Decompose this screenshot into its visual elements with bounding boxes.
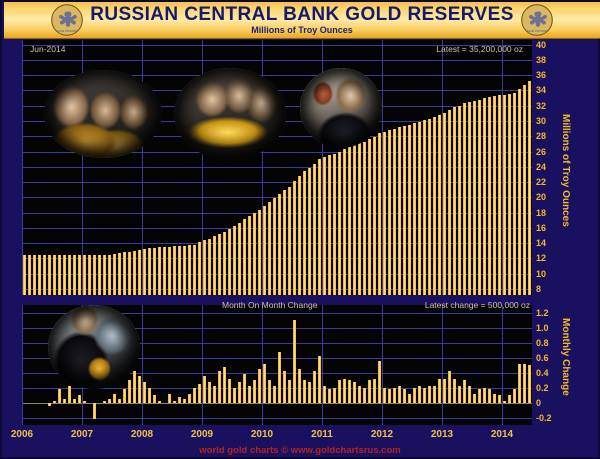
y-axis-tick: 8 bbox=[536, 285, 541, 294]
monthly-change-bar bbox=[303, 380, 306, 403]
monthly-change-bar bbox=[503, 401, 506, 403]
latest-change-label: Latest change = 500,000 oz bbox=[425, 300, 530, 310]
monthly-change-bar bbox=[273, 386, 276, 403]
reserves-bar bbox=[273, 198, 276, 295]
reserves-bar bbox=[393, 129, 396, 295]
monthly-change-bar bbox=[373, 379, 376, 403]
reserves-bar bbox=[118, 253, 121, 295]
reserves-bar bbox=[318, 159, 321, 295]
y-axis-tick: 30 bbox=[536, 117, 546, 126]
monthly-change-bar bbox=[433, 386, 436, 403]
reserves-bar bbox=[508, 94, 511, 295]
reserves-bar bbox=[123, 252, 126, 295]
monthly-change-bar bbox=[63, 399, 66, 403]
reserves-bar bbox=[243, 219, 246, 295]
monthly-change-bar bbox=[188, 394, 191, 403]
y-axis-tick: 28 bbox=[536, 132, 546, 141]
reserves-bar bbox=[218, 234, 221, 295]
photo-gold-bar-handover bbox=[174, 68, 286, 160]
reserves-bar bbox=[403, 126, 406, 296]
monthly-change-bar bbox=[313, 371, 316, 403]
reserves-bar bbox=[158, 247, 161, 295]
reserves-bar bbox=[108, 255, 111, 296]
monthly-change-bar bbox=[48, 403, 51, 407]
russian-eagle-emblem-right: БАНК РОССИИ bbox=[520, 3, 554, 37]
monthly-change-bar bbox=[78, 395, 81, 403]
y-axis-tick: 0.6 bbox=[536, 354, 549, 363]
y-axis-tick: 0 bbox=[536, 399, 541, 408]
monthly-change-plot-area bbox=[22, 305, 532, 425]
reserves-bar bbox=[443, 113, 446, 296]
reserves-bar bbox=[33, 255, 36, 295]
x-axis-tick: 2007 bbox=[71, 429, 93, 440]
monthly-change-bar bbox=[478, 389, 481, 403]
reserves-bar bbox=[353, 145, 356, 295]
monthly-change-bar bbox=[423, 388, 426, 403]
monthly-change-bar bbox=[398, 386, 401, 403]
monthly-change-bar bbox=[393, 388, 396, 403]
reserves-bar bbox=[233, 226, 236, 296]
monthly-change-bar bbox=[323, 386, 326, 403]
monthly-change-bar bbox=[213, 386, 216, 403]
monthly-change-bar bbox=[453, 379, 456, 403]
reserves-bar bbox=[268, 202, 271, 295]
monthly-change-bar bbox=[83, 401, 86, 403]
y-axis-tick: 18 bbox=[536, 209, 546, 218]
reserves-bar bbox=[23, 255, 26, 295]
x-axis-tick: 2011 bbox=[311, 429, 333, 440]
reserves-bar bbox=[248, 216, 251, 295]
monthly-change-bar bbox=[218, 371, 221, 403]
page-subtitle: Millions of Troy Ounces bbox=[251, 25, 353, 36]
monthly-change-bar bbox=[288, 380, 291, 403]
monthly-change-bar bbox=[53, 401, 56, 403]
monthly-change-bar bbox=[128, 380, 131, 403]
reserves-bar bbox=[498, 95, 501, 295]
monthly-change-title: Month On Month Change bbox=[222, 300, 317, 310]
reserves-bar bbox=[293, 181, 296, 295]
monthly-change-bar bbox=[73, 399, 76, 403]
reserves-bar bbox=[223, 232, 226, 295]
y-axis-tick: 24 bbox=[536, 163, 546, 172]
monthly-change-bar bbox=[283, 371, 286, 403]
reserves-bar bbox=[228, 229, 231, 295]
monthly-change-bar bbox=[68, 386, 71, 403]
monthly-change-bar bbox=[58, 389, 61, 403]
chart-page: БАНК РОССИИ RUSSIAN CENTRAL BANK GOLD RE… bbox=[0, 0, 600, 459]
monthly-change-bar bbox=[483, 388, 486, 403]
reserves-bar bbox=[448, 110, 451, 296]
reserves-bar bbox=[383, 132, 386, 295]
monthly-change-bar bbox=[243, 374, 246, 403]
reserves-bar bbox=[78, 255, 81, 295]
monthly-change-bar bbox=[443, 379, 446, 403]
monthly-change-bar bbox=[268, 380, 271, 403]
y-axis-tick: 10 bbox=[536, 270, 546, 279]
y-axis-tick: 36 bbox=[536, 71, 546, 80]
reserves-bar bbox=[473, 101, 476, 295]
reserves-bar bbox=[478, 100, 481, 295]
x-axis-tick: 2009 bbox=[191, 429, 213, 440]
monthly-change-bar bbox=[403, 389, 406, 403]
monthly-change-bar bbox=[528, 365, 531, 403]
reserves-bar bbox=[58, 255, 61, 295]
monthly-change-bar bbox=[248, 386, 251, 403]
x-axis-tick: 2013 bbox=[431, 429, 453, 440]
monthly-change-bar bbox=[518, 364, 521, 403]
monthly-change-bar bbox=[413, 388, 416, 403]
reserves-bar bbox=[503, 95, 506, 295]
y-axis-tick: 40 bbox=[536, 41, 546, 50]
monthly-change-bar bbox=[368, 380, 371, 403]
reserves-bar bbox=[398, 127, 401, 295]
reserves-bar bbox=[493, 96, 496, 295]
monthly-change-bar bbox=[328, 389, 331, 403]
reserves-bar bbox=[438, 115, 441, 295]
reserves-bar bbox=[283, 190, 286, 295]
monthly-change-y-axis-label: Monthly Change bbox=[560, 318, 571, 396]
reserves-bar bbox=[63, 255, 66, 295]
y-axis-tick: 0.8 bbox=[536, 339, 549, 348]
reserves-bar bbox=[113, 254, 116, 295]
reserves-bar bbox=[163, 247, 166, 295]
monthly-change-bar bbox=[158, 401, 161, 403]
latest-value-label: Latest = 35,200,000 oz bbox=[436, 44, 523, 54]
monthly-change-bar bbox=[438, 379, 441, 403]
y-axis-tick: 14 bbox=[536, 239, 546, 248]
reserves-bar bbox=[528, 81, 531, 295]
reserves-bar bbox=[348, 147, 351, 295]
reserves-bar bbox=[523, 85, 526, 295]
reserves-bar bbox=[208, 239, 211, 296]
y-axis-tick: 34 bbox=[536, 86, 546, 95]
monthly-change-bar bbox=[108, 399, 111, 403]
reserves-bar bbox=[458, 106, 461, 295]
reserves-bar bbox=[463, 103, 466, 295]
reserves-bar bbox=[468, 102, 471, 295]
y-axis-tick: 0.4 bbox=[536, 369, 549, 378]
x-axis-tick: 2008 bbox=[131, 429, 153, 440]
reserves-bar bbox=[408, 125, 411, 295]
reserves-bar bbox=[198, 242, 201, 295]
reserves-bar bbox=[203, 240, 206, 295]
monthly-change-bar bbox=[208, 382, 211, 403]
reserves-bar bbox=[138, 250, 141, 295]
monthly-change-bar bbox=[253, 380, 256, 403]
monthly-change-bar bbox=[513, 389, 516, 403]
y-axis-tick: 38 bbox=[536, 56, 546, 65]
reserves-bar bbox=[423, 120, 426, 295]
monthly-change-bar bbox=[228, 379, 231, 403]
reserves-bar bbox=[513, 93, 516, 295]
monthly-change-bar bbox=[178, 397, 181, 403]
reserves-bar bbox=[278, 194, 281, 295]
reserves-bar bbox=[188, 245, 191, 295]
monthly-change-bar bbox=[103, 401, 106, 403]
monthly-change-bar bbox=[293, 320, 296, 403]
reserves-bar bbox=[518, 89, 521, 295]
reserves-bar bbox=[328, 155, 331, 295]
reserves-bar bbox=[333, 154, 336, 295]
reserves-bar bbox=[43, 255, 46, 295]
y-axis-tick: 22 bbox=[536, 178, 546, 187]
photo-officials-gold-bars bbox=[44, 70, 162, 158]
reserves-bar bbox=[413, 123, 416, 295]
monthly-change-bar bbox=[348, 380, 351, 403]
x-axis-tick: 2014 bbox=[491, 429, 513, 440]
reserves-bar bbox=[363, 142, 366, 296]
monthly-change-bar bbox=[343, 379, 346, 403]
monthly-change-bar bbox=[223, 367, 226, 403]
reserves-bar bbox=[378, 133, 381, 295]
monthly-change-bar bbox=[358, 386, 361, 403]
svg-text:БАНК РОССИИ: БАНК РОССИИ bbox=[526, 29, 547, 33]
reserves-bar bbox=[483, 98, 486, 295]
monthly-change-bar bbox=[523, 364, 526, 403]
reserves-bar bbox=[418, 122, 421, 295]
monthly-change-bar bbox=[173, 401, 176, 403]
reserves-bar bbox=[488, 97, 491, 296]
reserves-bar bbox=[168, 247, 171, 295]
reserves-bar bbox=[258, 210, 261, 296]
y-axis-tick: -0.2 bbox=[536, 414, 552, 423]
reserves-bar bbox=[388, 130, 391, 295]
reserves-bar bbox=[73, 255, 76, 295]
reserves-y-axis-label: Millions of Troy Ounces bbox=[560, 114, 571, 227]
reserves-bar bbox=[183, 246, 186, 295]
reserves-bar bbox=[338, 152, 341, 296]
monthly-change-bar bbox=[238, 382, 241, 403]
monthly-change-bar bbox=[93, 403, 96, 420]
y-axis-tick: 26 bbox=[536, 148, 546, 157]
header-text-group: RUSSIAN CENTRAL BANK GOLD RESERVES Milli… bbox=[4, 2, 600, 38]
monthly-change-bar bbox=[473, 394, 476, 403]
monthly-change-bar bbox=[183, 399, 186, 403]
reserves-bar bbox=[358, 143, 361, 295]
monthly-change-bar bbox=[258, 369, 261, 403]
monthly-change-bar bbox=[278, 352, 281, 403]
monthly-change-bar bbox=[168, 394, 171, 403]
monthly-change-bar bbox=[203, 376, 206, 402]
reserves-bar bbox=[153, 248, 156, 295]
monthly-change-bar bbox=[378, 361, 381, 402]
reserves-bar bbox=[53, 255, 56, 295]
monthly-change-bar bbox=[458, 386, 461, 403]
reserves-bar bbox=[288, 187, 291, 295]
x-axis-tick: 2006 bbox=[11, 429, 33, 440]
monthly-change-bar bbox=[198, 384, 201, 403]
monthly-change-bar bbox=[463, 380, 466, 403]
date-label: Jun-2014 bbox=[30, 44, 65, 54]
y-axis-tick: 0.2 bbox=[536, 384, 549, 393]
monthly-change-bar bbox=[508, 395, 511, 403]
reserves-bar bbox=[253, 213, 256, 296]
monthly-change-bar bbox=[493, 394, 496, 403]
reserves-bar bbox=[143, 249, 146, 295]
reserves-bar bbox=[428, 119, 431, 295]
reserves-bar bbox=[193, 245, 196, 295]
monthly-change-bar bbox=[123, 389, 126, 403]
monthly-change-bar bbox=[498, 395, 501, 403]
reserves-bar bbox=[343, 149, 346, 295]
reserves-bar bbox=[128, 252, 131, 296]
monthly-change-bar bbox=[428, 386, 431, 403]
monthly-change-bar bbox=[468, 386, 471, 403]
photo-putin-gold bbox=[48, 305, 140, 389]
x-axis-tick: 2012 bbox=[371, 429, 393, 440]
reserves-bar bbox=[213, 236, 216, 295]
y-axis-tick: 32 bbox=[536, 102, 546, 111]
reserves-bar bbox=[238, 223, 241, 296]
monthly-change-bar bbox=[153, 395, 156, 403]
reserves-bar bbox=[83, 255, 86, 296]
reserves-bar bbox=[148, 248, 151, 295]
monthly-change-bar bbox=[408, 394, 411, 403]
chart-header: БАНК РОССИИ RUSSIAN CENTRAL BANK GOLD RE… bbox=[4, 2, 600, 39]
reserves-bar bbox=[68, 255, 71, 295]
y-axis-tick: 16 bbox=[536, 224, 546, 233]
monthly-change-bar bbox=[118, 399, 121, 403]
page-title: RUSSIAN CENTRAL BANK GOLD RESERVES bbox=[90, 5, 514, 25]
monthly-change-bar bbox=[308, 382, 311, 403]
reserves-bar bbox=[368, 139, 371, 295]
reserves-bar bbox=[308, 168, 311, 296]
monthly-change-bar bbox=[338, 380, 341, 403]
reserves-bar bbox=[93, 255, 96, 296]
y-axis-tick: 1.0 bbox=[536, 324, 549, 333]
monthly-change-bar bbox=[113, 394, 116, 403]
monthly-change-bar bbox=[133, 371, 136, 403]
reserves-bar bbox=[88, 255, 91, 296]
photo-medvedev bbox=[300, 68, 382, 148]
reserves-bar bbox=[178, 246, 181, 295]
reserves-bar bbox=[133, 251, 136, 295]
monthly-change-bar bbox=[448, 371, 451, 403]
monthly-change-bar bbox=[418, 386, 421, 403]
footer-credit: world gold charts © www.goldchartsrus.co… bbox=[2, 445, 598, 456]
monthly-change-bar bbox=[383, 388, 386, 403]
reserves-bar bbox=[298, 176, 301, 295]
monthly-change-bar bbox=[353, 382, 356, 403]
x-axis-tick: 2010 bbox=[251, 429, 273, 440]
reserves-bar bbox=[28, 255, 31, 295]
reserves-bar bbox=[38, 255, 41, 295]
monthly-change-bar bbox=[388, 389, 391, 403]
monthly-change-bar bbox=[363, 388, 366, 403]
reserves-bar bbox=[453, 107, 456, 295]
reserves-bar bbox=[303, 171, 306, 295]
reserves-bar bbox=[433, 117, 436, 295]
y-axis-tick: 12 bbox=[536, 254, 546, 263]
monthly-change-bar bbox=[143, 382, 146, 403]
monthly-change-bar bbox=[333, 388, 336, 403]
reserves-bar bbox=[323, 157, 326, 295]
reserves-bar bbox=[103, 255, 106, 296]
monthly-change-bar bbox=[193, 388, 196, 403]
monthly-change-bar bbox=[263, 364, 266, 403]
reserves-bar bbox=[173, 246, 176, 295]
monthly-change-bar bbox=[148, 388, 151, 403]
monthly-change-bar bbox=[298, 369, 301, 403]
reserves-bar bbox=[313, 164, 316, 295]
y-axis-tick: 1.2 bbox=[536, 309, 549, 318]
monthly-change-bar bbox=[488, 389, 491, 403]
reserves-bar bbox=[373, 137, 376, 295]
monthly-change-bar bbox=[138, 376, 141, 402]
reserves-bar bbox=[48, 255, 51, 295]
monthly-change-bar bbox=[318, 356, 321, 403]
y-axis-tick: 20 bbox=[536, 193, 546, 202]
reserves-bar bbox=[263, 206, 266, 295]
monthly-change-bar bbox=[233, 388, 236, 403]
reserves-plot-area bbox=[22, 40, 532, 295]
reserves-bar bbox=[98, 255, 101, 296]
